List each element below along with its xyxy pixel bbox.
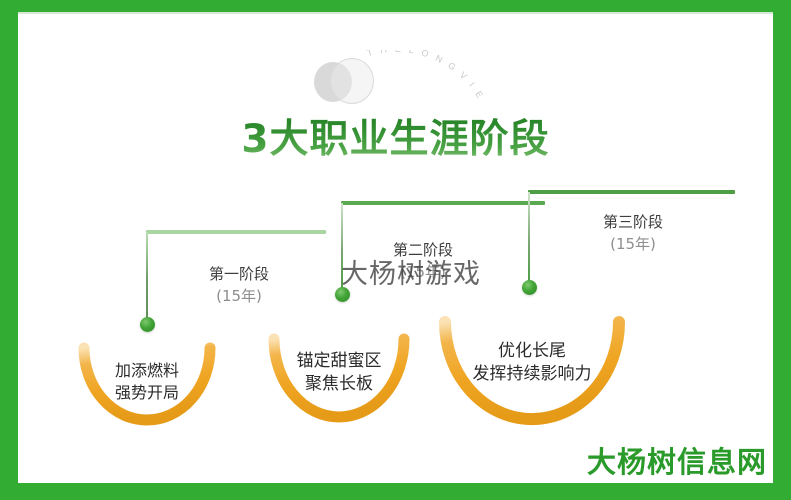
- watermark-center: 大杨树游戏: [341, 252, 481, 291]
- step-bar-stage-2: [341, 201, 545, 205]
- top-seam-divider: [18, 12, 773, 14]
- step-drop-stage-3: [528, 192, 530, 284]
- bowl-text-2-line1: 锚定甜蜜区: [260, 350, 418, 373]
- watermark-corner: 大杨树信息网: [587, 439, 767, 481]
- bowl-text-1-line2: 强势开局: [68, 382, 226, 404]
- stage-label-3-years: (15年): [573, 234, 693, 256]
- slide-root: T H E L O N G V I E W 3大职业生涯阶段 第一阶段 (15年…: [0, 0, 791, 500]
- bowl-stage-3: 优化长尾 发挥持续影响力: [428, 306, 636, 451]
- stage-label-1-name: 第一阶段: [184, 264, 294, 286]
- step-bar-stage-1: [146, 230, 326, 234]
- stage-label-3: 第三阶段 (15年): [573, 212, 693, 256]
- stage-label-1-years: (15年): [184, 286, 294, 308]
- bowl-text-3: 优化长尾 发挥持续影响力: [428, 340, 636, 387]
- step-dot-stage-1: [140, 317, 155, 332]
- bowl-text-3-line1: 优化长尾: [428, 340, 636, 363]
- bowl-text-1-line1: 加添燃料: [68, 360, 226, 382]
- bowl-text-3-line2: 发挥持续影响力: [428, 363, 636, 386]
- bowl-text-2: 锚定甜蜜区 聚焦长板: [260, 350, 418, 397]
- bowl-stage-1: 加添燃料 强势开局: [68, 332, 226, 444]
- slide-canvas: T H E L O N G V I E W 3大职业生涯阶段 第一阶段 (15年…: [18, 12, 773, 483]
- stage-label-1: 第一阶段 (15年): [184, 264, 294, 308]
- step-bar-stage-3: [528, 190, 735, 194]
- step-dot-stage-3: [522, 280, 537, 295]
- bowl-text-1: 加添燃料 强势开局: [68, 360, 226, 404]
- stage-label-3-name: 第三阶段: [573, 212, 693, 234]
- bowl-text-2-line2: 聚焦长板: [260, 373, 418, 396]
- page-title: 3大职业生涯阶段: [18, 108, 773, 164]
- logo-arc-label: T H E L O N G V I E W: [366, 50, 489, 106]
- bowl-stage-2: 锚定甜蜜区 聚焦长板: [260, 325, 418, 445]
- logo-arc-text: T H E L O N G V I E W: [366, 50, 526, 112]
- brand-logo: T H E L O N G V I E W: [308, 50, 523, 112]
- step-drop-stage-1: [146, 232, 148, 322]
